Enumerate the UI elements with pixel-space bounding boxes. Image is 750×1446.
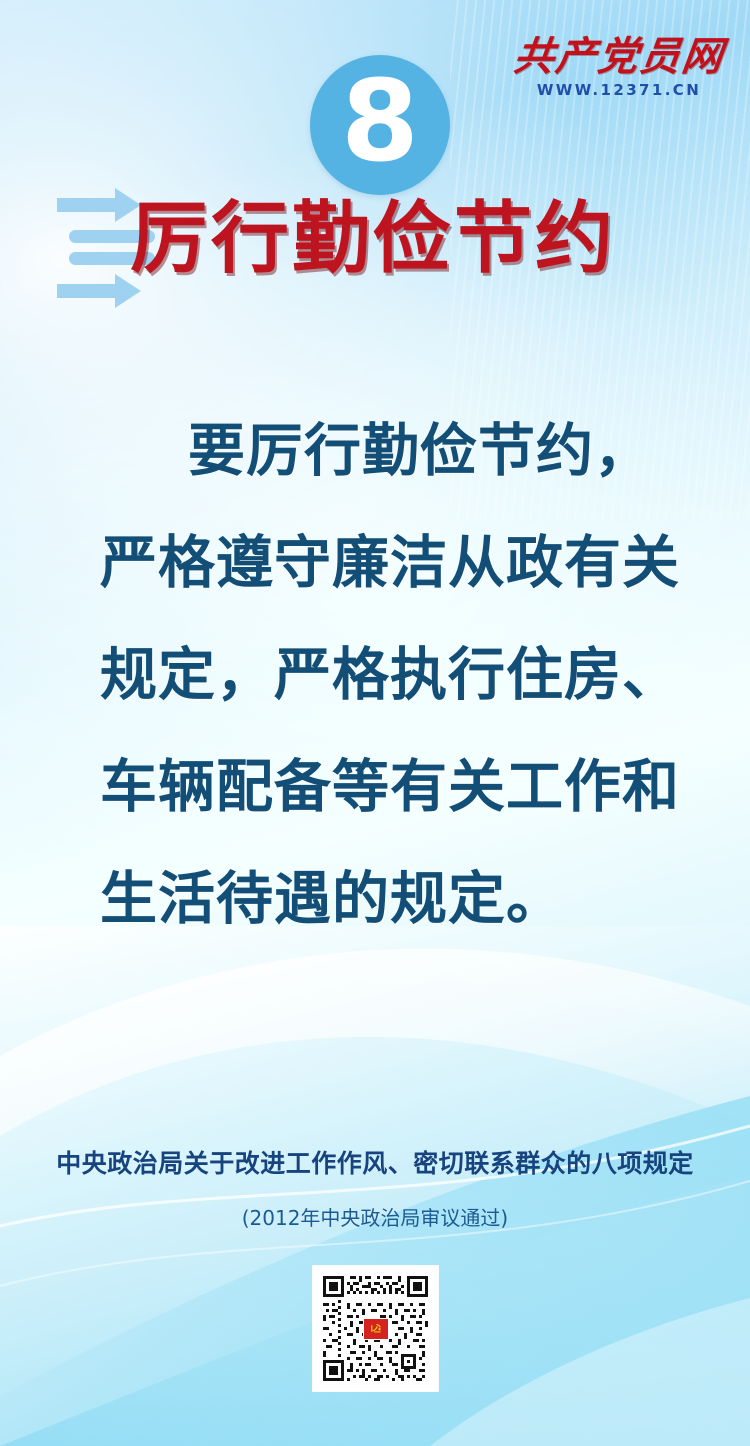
party-emblem-icon	[363, 1318, 389, 1340]
body-line: 严格遵守廉洁从政有关	[0, 507, 750, 619]
body-copy: 要厉行勤俭节约， 严格遵守廉洁从政有关 规定，严格执行住房、 车辆配备等有关工作…	[0, 395, 750, 955]
footer: 中央政治局关于改进工作作风、密切联系群众的八项规定 (2012年中央政治局审议通…	[0, 1144, 750, 1231]
footer-subtitle: (2012年中央政治局审议通过)	[0, 1202, 750, 1231]
poster-canvas: 共产党员网 WWW.12371.CN 8 厉行勤俭节约 要厉行勤俭节约， 严格遵…	[0, 0, 750, 1446]
site-logo-name: 共产党员网	[501, 36, 736, 78]
site-logo-url: WWW.12371.CN	[504, 81, 734, 99]
body-line: 要厉行勤俭节约，	[0, 395, 750, 507]
footer-title: 中央政治局关于改进工作作风、密切联系群众的八项规定	[0, 1144, 750, 1180]
page-title: 厉行勤俭节约	[130, 196, 670, 283]
qr-code[interactable]	[313, 1266, 438, 1391]
number-badge: 8	[310, 55, 450, 195]
site-logo[interactable]: 共产党员网 WWW.12371.CN	[504, 36, 734, 99]
number-badge-value: 8	[341, 66, 419, 178]
body-line: 车辆配备等有关工作和	[0, 731, 750, 843]
body-line: 生活待遇的规定。	[0, 843, 750, 955]
body-line: 规定，严格执行住房、	[0, 619, 750, 731]
